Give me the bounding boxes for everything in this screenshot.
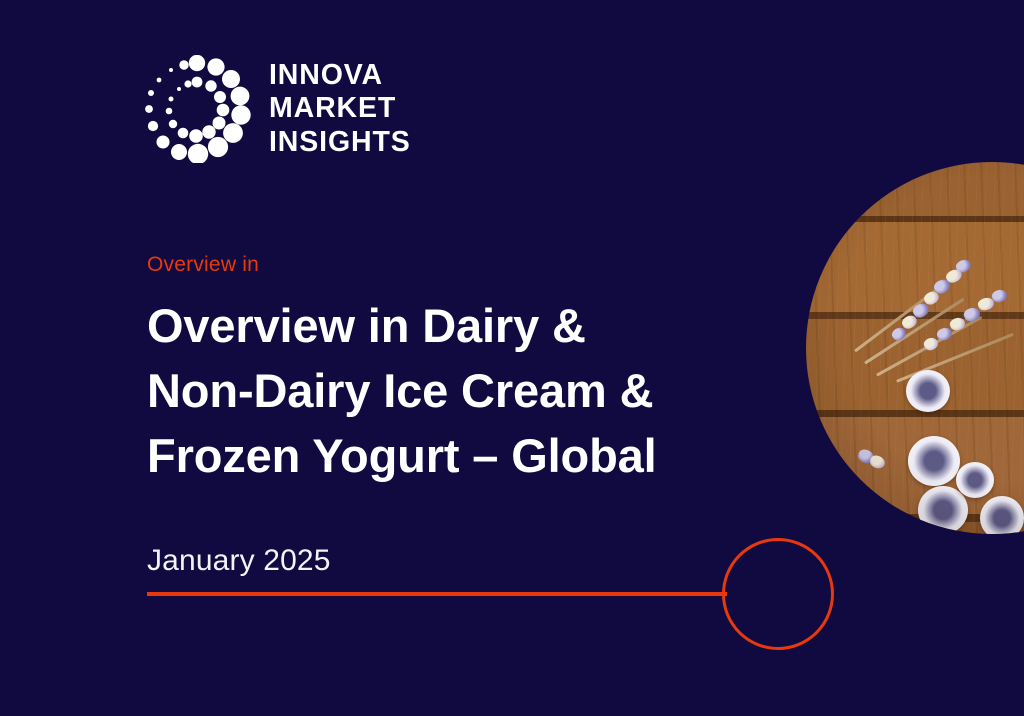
report-cover: INNOVA MARKET INSIGHTS: [0, 0, 1024, 716]
accent-ring: [722, 538, 834, 650]
page-title: Overview in Dairy & Non-Dairy Ice Cream …: [147, 293, 787, 488]
title-line-3: Frozen Yogurt – Global: [147, 423, 787, 488]
title-line-2: Non-Dairy Ice Cream &: [147, 358, 787, 423]
photo-vignette: [806, 162, 1024, 534]
cover-photo: [806, 162, 1024, 534]
logo-line-2: MARKET: [269, 92, 411, 125]
brand-wordmark: INNOVA MARKET INSIGHTS: [269, 59, 411, 159]
brand-logo: INNOVA MARKET INSIGHTS: [143, 55, 411, 163]
innova-dotted-ring-logo-icon: [143, 55, 251, 163]
logo-line-3: INSIGHTS: [269, 126, 411, 159]
eyebrow-label: Overview in: [147, 253, 259, 277]
accent-rule: [147, 592, 727, 596]
title-line-1: Overview in Dairy &: [147, 293, 787, 358]
publication-date: January 2025: [147, 544, 331, 578]
logo-line-1: INNOVA: [269, 59, 411, 92]
